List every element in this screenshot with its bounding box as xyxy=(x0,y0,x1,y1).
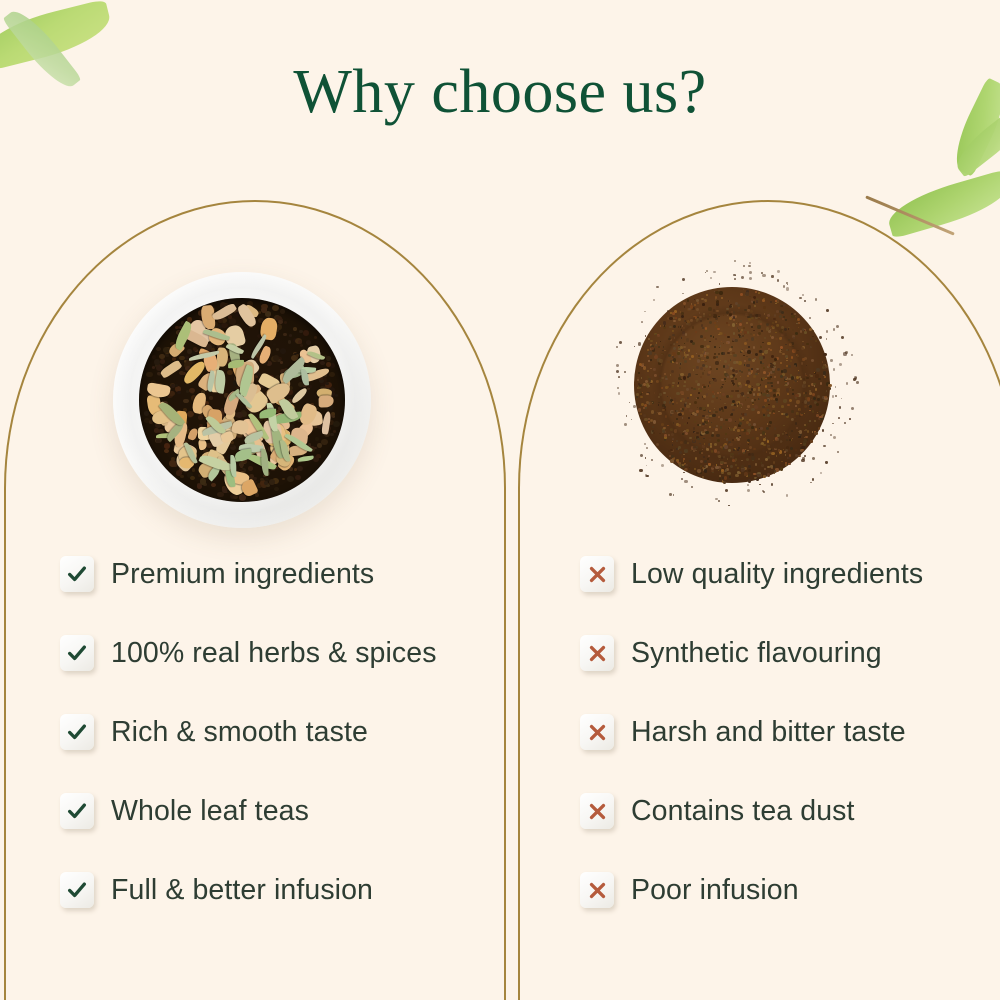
list-item: Low quality ingredients xyxy=(580,548,980,600)
list-item-label: Whole leaf teas xyxy=(111,795,309,828)
cross-icon xyxy=(580,714,614,750)
page-title: Why choose us? xyxy=(0,58,1000,126)
list-item-label: Poor infusion xyxy=(631,874,799,907)
list-item: 100% real herbs & spices xyxy=(60,627,490,679)
list-item-label: Full & better infusion xyxy=(111,874,373,907)
cross-icon xyxy=(580,635,614,671)
list-item: Harsh and bitter taste xyxy=(580,706,980,758)
list-item-label: Contains tea dust xyxy=(631,795,855,828)
list-item: Whole leaf teas xyxy=(60,785,490,837)
list-item: Rich & smooth taste xyxy=(60,706,490,758)
list-item-label: 100% real herbs & spices xyxy=(111,637,437,670)
list-item: Poor infusion xyxy=(580,864,980,916)
cross-icon xyxy=(580,556,614,592)
list-item-label: Premium ingredients xyxy=(111,558,374,591)
check-icon xyxy=(60,793,94,829)
check-icon xyxy=(60,556,94,592)
benefits-list-left: Premium ingredients 100% real herbs & sp… xyxy=(60,548,490,916)
list-item-label: Rich & smooth taste xyxy=(111,716,368,749)
list-item: Premium ingredients xyxy=(60,548,490,600)
why-choose-us-comparison-graphic: Why choose us? Premium ingredients 100% … xyxy=(0,0,1000,1000)
list-item: Full & better infusion xyxy=(60,864,490,916)
check-icon xyxy=(60,635,94,671)
check-icon xyxy=(60,872,94,908)
cross-icon xyxy=(580,793,614,829)
product-image-tea-dust xyxy=(634,287,830,483)
check-icon xyxy=(60,714,94,750)
product-image-whole-leaf-tea xyxy=(113,272,371,528)
list-item: Synthetic flavouring xyxy=(580,627,980,679)
list-item-label: Low quality ingredients xyxy=(631,558,923,591)
drawbacks-list-right: Low quality ingredients Synthetic flavou… xyxy=(580,548,980,916)
list-item-label: Synthetic flavouring xyxy=(631,637,882,670)
cross-icon xyxy=(580,872,614,908)
list-item-label: Harsh and bitter taste xyxy=(631,716,906,749)
list-item: Contains tea dust xyxy=(580,785,980,837)
tea-blend-contents xyxy=(139,298,345,502)
